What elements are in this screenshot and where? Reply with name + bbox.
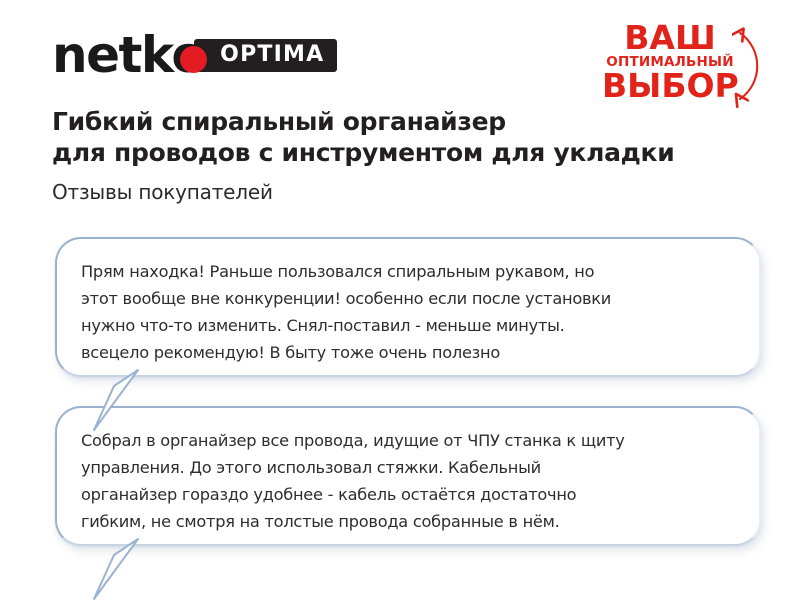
review-bubble-body: Прям находка! Раньше пользовался спираль… [55, 237, 761, 377]
review-text: Собрал в органайзер все провода, идущие … [57, 408, 759, 535]
review-bubble-2: Собрал в органайзер все провода, идущие … [55, 406, 761, 546]
review-text: Прям находка! Раньше пользовался спираль… [57, 239, 759, 366]
promo-page: netko OPTIMA ВАШ ОПТИМАЛЬНЫЙ ВЫБОР [0, 0, 800, 600]
review-bubble-body: Собрал в органайзер все провода, идущие … [55, 406, 761, 546]
red-dot-icon [180, 46, 207, 73]
optima-badge-label: OPTIMA [220, 44, 324, 66]
optima-badge: OPTIMA [194, 39, 337, 72]
customer-reviews-list: Прям находка! Раньше пользовался спираль… [0, 0, 800, 600]
review-bubble-1: Прям находка! Раньше пользовался спираль… [55, 237, 761, 377]
speech-bubble-tail-icon [92, 537, 168, 601]
